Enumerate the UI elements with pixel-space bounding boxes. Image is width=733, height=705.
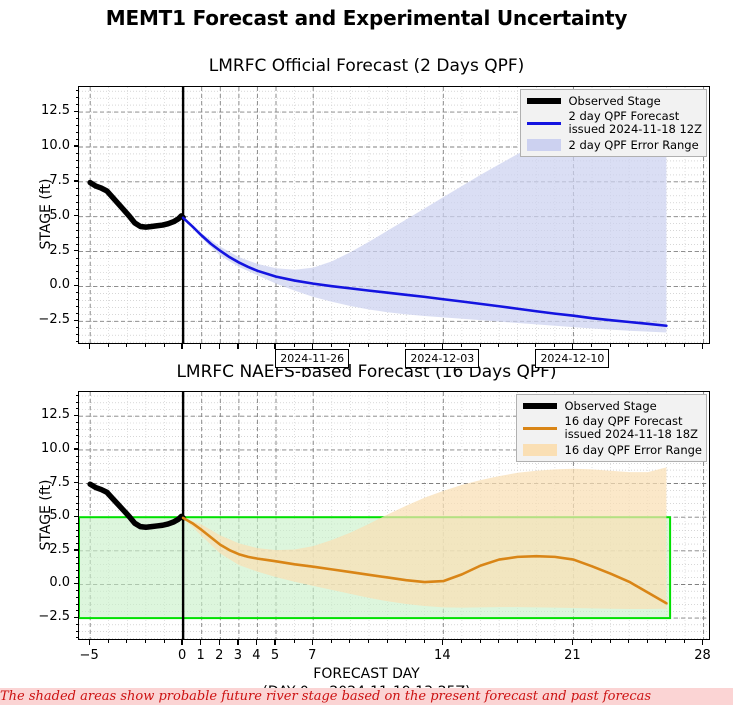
y-tick-mark xyxy=(74,415,78,416)
x-tick-mark xyxy=(219,640,220,645)
y-tick-mark-minor xyxy=(76,230,79,231)
y-tick-mark xyxy=(74,215,78,216)
x-tick-mark-minor xyxy=(610,640,611,643)
y-tick-mark-minor xyxy=(76,97,79,98)
x-tick-mark-minor xyxy=(424,344,425,347)
x-tick-label: −5 xyxy=(64,648,114,663)
y-tick-label: 2.5 xyxy=(14,542,70,557)
x-tick-mark-minor xyxy=(294,640,295,643)
y-tick-mark-minor xyxy=(76,104,79,105)
x-tick-mark xyxy=(274,640,275,645)
y-tick-mark-minor xyxy=(76,195,79,196)
y-tick-mark-minor xyxy=(76,462,79,463)
y-tick-mark xyxy=(74,617,78,618)
y-tick-mark-minor xyxy=(76,442,79,443)
y-tick-mark-minor xyxy=(76,435,79,436)
x-tick-mark-minor xyxy=(628,344,629,347)
y-tick-mark-minor xyxy=(76,496,79,497)
y-tick-mark-minor xyxy=(76,118,79,119)
y-tick-mark xyxy=(74,583,78,584)
y-tick-mark-minor xyxy=(76,271,79,272)
x-tick-mark-minor xyxy=(126,344,127,347)
y-tick-mark-minor xyxy=(76,334,79,335)
figure-caption: The shaded areas show probable future ri… xyxy=(0,688,733,705)
y-tick-mark-minor xyxy=(76,408,79,409)
y-tick-mark-minor xyxy=(76,90,79,91)
y-tick-mark-minor xyxy=(76,139,79,140)
y-tick-mark xyxy=(74,320,78,321)
x-tick-mark-minor xyxy=(331,640,332,643)
y-tick-mark-minor xyxy=(76,610,79,611)
legend-label: 2 day QPF Error Range xyxy=(569,139,699,152)
chart-title-top: LMRFC Official Forecast (2 Days QPF) xyxy=(0,56,733,76)
y-tick-mark xyxy=(74,180,78,181)
x-tick-mark-minor xyxy=(480,640,481,643)
y-tick-mark-minor xyxy=(76,313,79,314)
x-tick-mark-minor xyxy=(647,344,648,347)
legend-label: Observed Stage xyxy=(569,95,661,108)
x-tick-mark-minor xyxy=(405,344,406,347)
x-tick-mark-minor xyxy=(331,344,332,347)
x-tick-mark xyxy=(219,344,220,349)
x-tick-mark-minor xyxy=(126,640,127,643)
y-tick-mark-minor xyxy=(76,202,79,203)
x-tick-mark xyxy=(256,640,257,645)
x-tick-mark-minor xyxy=(610,344,611,347)
y-tick-mark-minor xyxy=(76,188,79,189)
x-tick-mark xyxy=(237,344,238,349)
y-tick-mark-minor xyxy=(76,125,79,126)
y-tick-mark-minor xyxy=(76,395,79,396)
legend-label: 16 day QPF Error Range xyxy=(565,444,703,457)
y-tick-mark xyxy=(74,145,78,146)
x-tick-mark xyxy=(237,640,238,645)
x-tick-mark xyxy=(702,344,703,349)
y-tick-mark-minor xyxy=(76,422,79,423)
x-tick-mark-minor xyxy=(145,344,146,347)
y-tick-mark-minor xyxy=(76,637,79,638)
date-annotation-box: 2024-12-03 xyxy=(405,349,479,368)
x-tick-mark-minor xyxy=(145,640,146,643)
x-tick-mark-minor xyxy=(684,640,685,643)
x-tick-mark-minor xyxy=(665,344,666,347)
x-tick-mark xyxy=(442,640,443,645)
x-tick-mark-minor xyxy=(480,344,481,347)
x-tick-mark-minor xyxy=(349,344,350,347)
y-tick-mark-minor xyxy=(76,530,79,531)
legend-item: 16 day QPF Forecastissued 2024-11-18 18Z xyxy=(521,414,703,442)
y-tick-mark-minor xyxy=(76,543,79,544)
x-tick-mark-minor xyxy=(461,640,462,643)
y-tick-label: 12.5 xyxy=(14,103,70,118)
y-tick-label: 7.5 xyxy=(14,475,70,490)
y-tick-mark-minor xyxy=(76,536,79,537)
x-tick-mark-minor xyxy=(424,640,425,643)
x-tick-mark-minor xyxy=(349,640,350,643)
x-tick-mark-minor xyxy=(387,640,388,643)
y-tick-label: 2.5 xyxy=(14,243,70,258)
y-tick-mark-minor xyxy=(76,306,79,307)
y-tick-mark-minor xyxy=(76,132,79,133)
y-tick-mark-minor xyxy=(76,292,79,293)
y-tick-mark-minor xyxy=(76,244,79,245)
x-tick-mark xyxy=(200,344,201,349)
y-tick-mark-minor xyxy=(76,604,79,605)
y-tick-mark xyxy=(74,111,78,112)
legend-bottom: Observed Stage16 day QPF Forecastissued … xyxy=(516,394,708,462)
y-tick-mark-minor xyxy=(76,570,79,571)
legend-item: 2 day QPF Error Range xyxy=(525,137,703,153)
y-tick-label: 12.5 xyxy=(14,407,70,422)
legend-item: Observed Stage xyxy=(521,398,703,414)
y-tick-mark xyxy=(74,516,78,517)
x-tick-mark-minor xyxy=(164,640,165,643)
figure-title: MEMT1 Forecast and Experimental Uncertai… xyxy=(0,6,733,30)
x-tick-mark-minor xyxy=(164,344,165,347)
y-tick-mark-minor xyxy=(76,265,79,266)
y-tick-mark-minor xyxy=(76,402,79,403)
thickline-swatch-icon xyxy=(525,94,563,108)
plot-area-top: Observed Stage2 day QPF Forecastissued 2… xyxy=(78,86,710,344)
y-tick-mark-minor xyxy=(76,590,79,591)
x-tick-label: 14 xyxy=(417,648,467,663)
legend-label: 16 day QPF Forecastissued 2024-11-18 18Z xyxy=(565,415,699,441)
y-tick-mark-minor xyxy=(76,429,79,430)
y-tick-mark-minor xyxy=(76,476,79,477)
x-tick-mark xyxy=(312,640,313,645)
x-tick-mark-minor xyxy=(517,640,518,643)
y-tick-mark-minor xyxy=(76,456,79,457)
x-tick-mark-minor xyxy=(591,344,592,347)
chart-title-bottom: LMRFC NAEFS-based Forecast (16 Days QPF) xyxy=(0,362,733,382)
y-tick-mark-minor xyxy=(76,469,79,470)
x-tick-mark-minor xyxy=(554,640,555,643)
x-tick-mark xyxy=(89,640,90,645)
orangeband-swatch-icon xyxy=(521,443,559,457)
legend-label: 2 day QPF Forecastissued 2024-11-18 12Z xyxy=(569,110,703,136)
y-tick-mark xyxy=(74,482,78,483)
x-tick-mark-minor xyxy=(647,640,648,643)
x-tick-mark-minor xyxy=(108,640,109,643)
y-tick-mark-minor xyxy=(76,258,79,259)
x-tick-mark-minor xyxy=(368,344,369,347)
x-tick-mark xyxy=(200,640,201,645)
y-tick-mark-minor xyxy=(76,489,79,490)
blueband-swatch-icon xyxy=(525,138,563,152)
y-tick-mark-minor xyxy=(76,223,79,224)
legend-item: 16 day QPF Error Range xyxy=(521,442,703,458)
y-tick-mark xyxy=(74,448,78,449)
legend-label: Observed Stage xyxy=(565,400,657,413)
x-axis-label: FORECAST DAY xyxy=(0,666,733,682)
x-tick-mark-minor xyxy=(405,640,406,643)
y-tick-mark-minor xyxy=(76,341,79,342)
thickline-swatch-icon xyxy=(521,399,559,413)
y-tick-label: 7.5 xyxy=(14,173,70,188)
x-tick-mark-minor xyxy=(665,640,666,643)
legend-item: 2 day QPF Forecastissued 2024-11-18 12Z xyxy=(525,109,703,137)
y-tick-label: 5.0 xyxy=(14,208,70,223)
y-tick-label: 10.0 xyxy=(14,138,70,153)
legend-top: Observed Stage2 day QPF Forecastissued 2… xyxy=(520,89,708,157)
y-tick-mark-minor xyxy=(76,523,79,524)
y-tick-mark-minor xyxy=(76,299,79,300)
y-tick-mark-minor xyxy=(76,209,79,210)
x-tick-mark xyxy=(256,344,257,349)
y-tick-mark-minor xyxy=(76,597,79,598)
y-tick-mark-minor xyxy=(76,174,79,175)
y-tick-mark-minor xyxy=(76,153,79,154)
x-tick-mark-minor xyxy=(684,344,685,347)
x-tick-mark-minor xyxy=(554,344,555,347)
x-tick-mark-minor xyxy=(517,344,518,347)
y-tick-mark-minor xyxy=(76,631,79,632)
y-tick-mark-minor xyxy=(76,167,79,168)
x-tick-mark-minor xyxy=(591,640,592,643)
x-tick-mark-minor xyxy=(108,344,109,347)
y-tick-mark-minor xyxy=(76,624,79,625)
y-tick-mark xyxy=(74,285,78,286)
x-tick-mark-minor xyxy=(387,344,388,347)
y-tick-label: −2.5 xyxy=(14,312,70,327)
x-tick-mark-minor xyxy=(628,640,629,643)
x-tick-mark xyxy=(702,640,703,645)
y-tick-label: 0.0 xyxy=(14,575,70,590)
y-tick-mark-minor xyxy=(76,160,79,161)
y-tick-mark-minor xyxy=(76,563,79,564)
orangeline-swatch-icon xyxy=(521,421,559,435)
x-tick-mark-minor xyxy=(498,344,499,347)
y-tick-mark xyxy=(74,250,78,251)
y-tick-mark-minor xyxy=(76,278,79,279)
x-tick-mark xyxy=(89,344,90,349)
x-tick-mark-minor xyxy=(498,640,499,643)
legend-item: Observed Stage xyxy=(525,93,703,109)
y-tick-label: 0.0 xyxy=(14,277,70,292)
date-annotation-box: 2024-12-10 xyxy=(535,349,609,368)
y-tick-label: 5.0 xyxy=(14,508,70,523)
y-tick-label: −2.5 xyxy=(14,609,70,624)
y-tick-label: 10.0 xyxy=(14,441,70,456)
y-tick-mark-minor xyxy=(76,557,79,558)
x-tick-mark-minor xyxy=(461,344,462,347)
x-tick-mark-minor xyxy=(535,640,536,643)
x-tick-label: 28 xyxy=(678,648,728,663)
x-tick-mark xyxy=(181,344,182,349)
y-tick-mark-minor xyxy=(76,503,79,504)
x-tick-mark-minor xyxy=(535,344,536,347)
series-observed-top xyxy=(90,183,183,228)
x-tick-label: 7 xyxy=(287,648,337,663)
date-annotation-box: 2024-11-26 xyxy=(275,349,349,368)
y-tick-mark-minor xyxy=(76,509,79,510)
plot-area-bottom: Observed Stage16 day QPF Forecastissued … xyxy=(78,391,710,640)
x-tick-mark-minor xyxy=(368,640,369,643)
y-tick-mark-minor xyxy=(76,327,79,328)
y-tick-mark xyxy=(74,549,78,550)
x-tick-mark xyxy=(181,640,182,645)
y-tick-mark-minor xyxy=(76,577,79,578)
figure-root: MEMT1 Forecast and Experimental Uncertai… xyxy=(0,0,733,705)
x-tick-mark-minor xyxy=(294,344,295,347)
blueline-swatch-icon xyxy=(525,116,563,130)
y-tick-mark-minor xyxy=(76,237,79,238)
x-tick-label: 21 xyxy=(547,648,597,663)
x-tick-mark xyxy=(572,640,573,645)
